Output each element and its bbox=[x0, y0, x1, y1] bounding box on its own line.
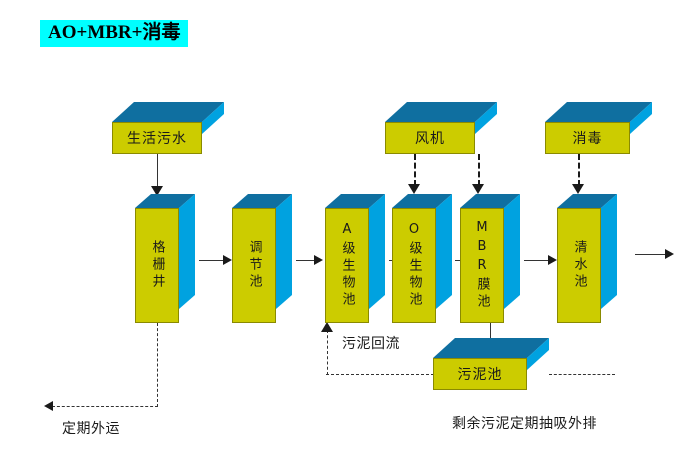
connector-grating-to-transport-vertical bbox=[157, 323, 158, 407]
arrowhead-adjust-to-a-tank bbox=[314, 255, 323, 265]
box-blower-label: 风机 bbox=[415, 128, 445, 148]
box-mbr-tank-label: MBR膜池 bbox=[474, 220, 491, 311]
arrowhead-blower-to-o-tank bbox=[408, 184, 420, 194]
box-adjust-tank-side-face bbox=[276, 194, 292, 309]
connector-adjust-to-a-tank bbox=[296, 260, 316, 261]
box-clear-tank-front-face: 清水池 bbox=[557, 208, 601, 323]
caption-periodic-transport: 定期外运 bbox=[62, 418, 120, 438]
connector-disinfection-to-clear-tank bbox=[578, 154, 580, 186]
box-adjust-tank-label: 调节池 bbox=[246, 240, 263, 291]
page-title: AO+MBR+消毒 bbox=[40, 20, 188, 47]
box-a-tank-label: A级生物池 bbox=[339, 222, 356, 309]
box-sludge-tank-label: 污泥池 bbox=[458, 364, 503, 384]
connector-mbr-to-clear-tank bbox=[524, 260, 550, 261]
caption-sludge-return: 污泥回流 bbox=[342, 333, 400, 353]
box-o-tank-label: O级生物池 bbox=[406, 222, 423, 309]
box-mbr-tank-front-face: MBR膜池 bbox=[460, 208, 504, 323]
box-a-tank-side-face bbox=[369, 194, 385, 309]
arrowhead-effluent-out bbox=[665, 249, 674, 259]
arrowhead-blower-to-mbr-tank bbox=[472, 184, 484, 194]
arrowhead-sludge-return bbox=[321, 322, 333, 332]
box-o-tank-side-face bbox=[436, 194, 452, 309]
connector-blower-to-mbr-tank bbox=[478, 154, 480, 186]
box-sludge-tank-front-face: 污泥池 bbox=[433, 358, 527, 390]
connector-inflow-to-grating bbox=[157, 154, 158, 190]
connector-grating-to-adjust bbox=[199, 260, 225, 261]
box-o-tank-front-face: O级生物池 bbox=[392, 208, 436, 323]
box-clear-tank-side-face bbox=[601, 194, 617, 309]
arrowhead-mbr-to-clear-tank bbox=[548, 255, 557, 265]
box-mbr-tank-side-face bbox=[504, 194, 520, 309]
arrowhead-disinfection-to-clear-tank bbox=[572, 184, 584, 194]
connector-effluent-out bbox=[635, 254, 667, 255]
box-inflow-front-face: 生活污水 bbox=[112, 122, 202, 154]
box-inflow-label: 生活污水 bbox=[127, 128, 187, 148]
box-clear-tank-label: 清水池 bbox=[571, 240, 588, 291]
connector-sludge-return-vertical bbox=[327, 330, 328, 375]
box-grating-well-side-face bbox=[179, 194, 195, 309]
box-disinfection-label: 消毒 bbox=[573, 128, 603, 148]
connector-sludge-return-horizontal bbox=[326, 374, 434, 375]
diagram-canvas: AO+MBR+消毒 生活污水 风机 消毒 bbox=[0, 0, 700, 450]
box-blower-front-face: 风机 bbox=[385, 122, 475, 154]
box-adjust-tank-front-face: 调节池 bbox=[232, 208, 276, 323]
box-grating-well-label: 格栅井 bbox=[149, 240, 166, 291]
caption-excess-sludge: 剩余污泥定期抽吸外排 bbox=[452, 413, 597, 433]
box-grating-well-front-face: 格栅井 bbox=[135, 208, 179, 323]
connector-sludge-discharge-right bbox=[549, 374, 615, 375]
arrowhead-periodic-transport bbox=[44, 401, 53, 411]
box-a-tank-front-face: A级生物池 bbox=[325, 208, 369, 323]
connector-transport-horizontal bbox=[52, 406, 158, 407]
box-disinfection-front-face: 消毒 bbox=[545, 122, 630, 154]
connector-blower-to-o-tank bbox=[414, 154, 416, 186]
arrowhead-grating-to-adjust bbox=[223, 255, 232, 265]
